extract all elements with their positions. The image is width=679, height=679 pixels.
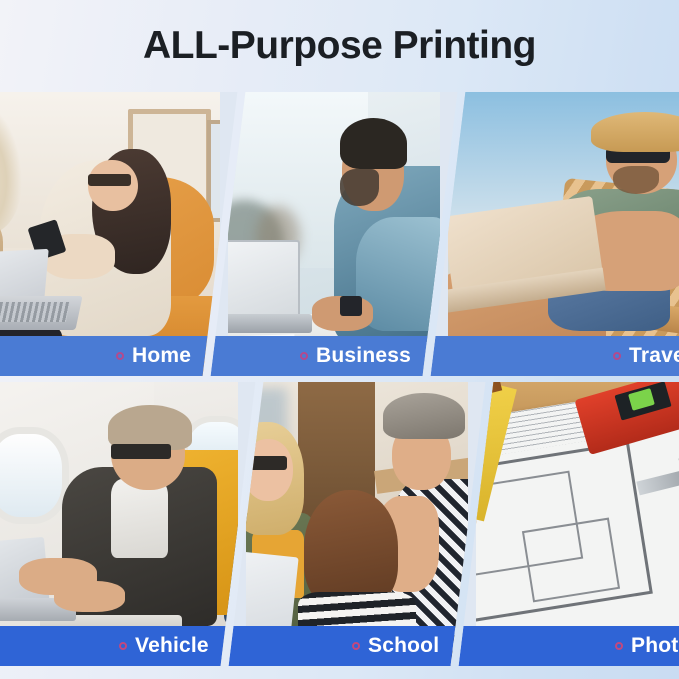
- circle-outline-bullet-icon: [116, 352, 124, 360]
- caption-label-photo: Photo: [631, 634, 679, 658]
- circle-outline-bullet-icon: [300, 352, 308, 360]
- use-case-tile-home[interactable]: Home: [0, 92, 237, 376]
- photo-vehicle: [0, 382, 238, 666]
- photo-photo: [476, 382, 679, 666]
- caption-label-business: Business: [316, 344, 411, 368]
- use-case-tile-business[interactable]: Business: [211, 92, 458, 376]
- use-case-tile-photo[interactable]: Photo: [459, 382, 679, 666]
- circle-outline-bullet-icon: [615, 642, 623, 650]
- photo-home: [0, 92, 220, 376]
- caption-label-travel: Travel: [629, 344, 679, 368]
- use-case-row-top: Home: [0, 92, 679, 376]
- use-case-tile-school[interactable]: School: [229, 382, 486, 666]
- circle-outline-bullet-icon: [613, 352, 621, 360]
- caption-label-school: School: [368, 634, 439, 658]
- use-case-grid: Home: [0, 92, 679, 679]
- caption-bar-home: Home: [0, 336, 207, 376]
- caption-label-vehicle: Vehicle: [135, 634, 209, 658]
- use-case-tile-vehicle[interactable]: Vehicle: [0, 382, 255, 666]
- use-case-tile-travel[interactable]: Travel: [431, 92, 679, 376]
- photo-school: [246, 382, 468, 666]
- caption-bar-business: Business: [211, 336, 428, 376]
- use-case-row-bottom: Vehicle: [0, 382, 679, 666]
- caption-bar-travel: Travel: [431, 336, 679, 376]
- caption-bar-photo: Photo: [459, 626, 679, 666]
- all-purpose-printing-poster: ALL-Purpose Printing: [0, 0, 679, 679]
- circle-outline-bullet-icon: [119, 642, 127, 650]
- poster-header: ALL-Purpose Printing: [0, 0, 679, 92]
- caption-bar-vehicle: Vehicle: [0, 626, 225, 666]
- photo-travel: [448, 92, 679, 376]
- circle-outline-bullet-icon: [352, 642, 360, 650]
- caption-label-home: Home: [132, 344, 191, 368]
- photo-business: [228, 92, 440, 376]
- page-title: ALL-Purpose Printing: [143, 24, 536, 68]
- caption-bar-school: School: [229, 626, 456, 666]
